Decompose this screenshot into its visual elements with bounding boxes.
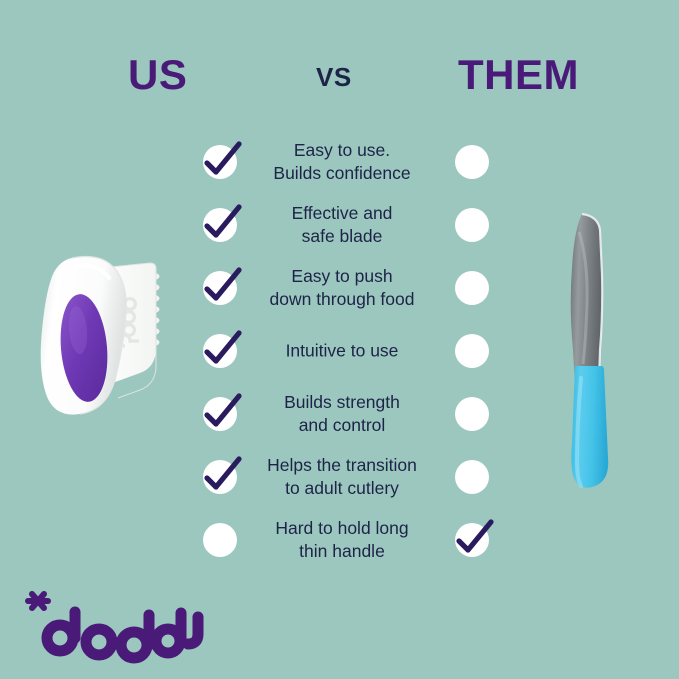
us-check-icon — [198, 203, 242, 247]
circle — [203, 145, 237, 179]
us-check-icon — [198, 266, 242, 310]
conventional-handle — [571, 366, 608, 488]
comparison-infographic: US VS THEM Easy to use. Builds confidenc… — [0, 0, 679, 679]
us-empty-circle-icon — [198, 518, 242, 562]
comparison-row: Easy to use. Builds confidence — [0, 130, 679, 193]
them-empty-circle-icon — [450, 392, 494, 436]
circle — [203, 334, 237, 368]
circle — [203, 397, 237, 431]
them-empty-circle-icon — [450, 203, 494, 247]
circle — [455, 208, 489, 242]
circle — [203, 523, 237, 557]
us-check-icon — [198, 455, 242, 499]
header-us: US — [128, 54, 187, 96]
circle — [203, 271, 237, 305]
them-check-icon — [450, 518, 494, 562]
them-empty-circle-icon — [450, 455, 494, 499]
them-empty-circle-icon — [450, 140, 494, 184]
conventional-blade — [571, 214, 603, 384]
comparison-row-label: Effective and safe blade — [244, 201, 440, 247]
us-check-icon — [198, 140, 242, 184]
header-vs: VS — [316, 64, 352, 90]
circle — [455, 460, 489, 494]
circle — [455, 145, 489, 179]
comparison-row-label: Easy to push down through food — [244, 264, 440, 310]
them-empty-circle-icon — [450, 266, 494, 310]
comparison-row-label: Helps the transition to adult cutlery — [244, 453, 440, 499]
circle — [203, 208, 237, 242]
comparison-header: US VS THEM — [0, 48, 679, 108]
comparison-row-label: Builds strength and control — [244, 390, 440, 436]
doddl-knife-image — [38, 246, 190, 454]
conventional-knife-image — [538, 206, 642, 502]
comparison-row: Hard to hold long thin handle — [0, 508, 679, 571]
comparison-row-label: Intuitive to use — [244, 339, 440, 362]
comparison-row-label: Hard to hold long thin handle — [244, 516, 440, 562]
doddl-handle — [41, 257, 127, 415]
circle — [203, 460, 237, 494]
circle — [455, 523, 489, 557]
them-empty-circle-icon — [450, 329, 494, 373]
header-them: THEM — [458, 54, 579, 96]
us-check-icon — [198, 392, 242, 436]
us-check-icon — [198, 329, 242, 373]
logo-asterisk — [28, 594, 48, 608]
doddl-logo — [18, 586, 208, 664]
circle — [455, 397, 489, 431]
comparison-row-label: Easy to use. Builds confidence — [244, 138, 440, 184]
circle — [455, 334, 489, 368]
circle — [455, 271, 489, 305]
